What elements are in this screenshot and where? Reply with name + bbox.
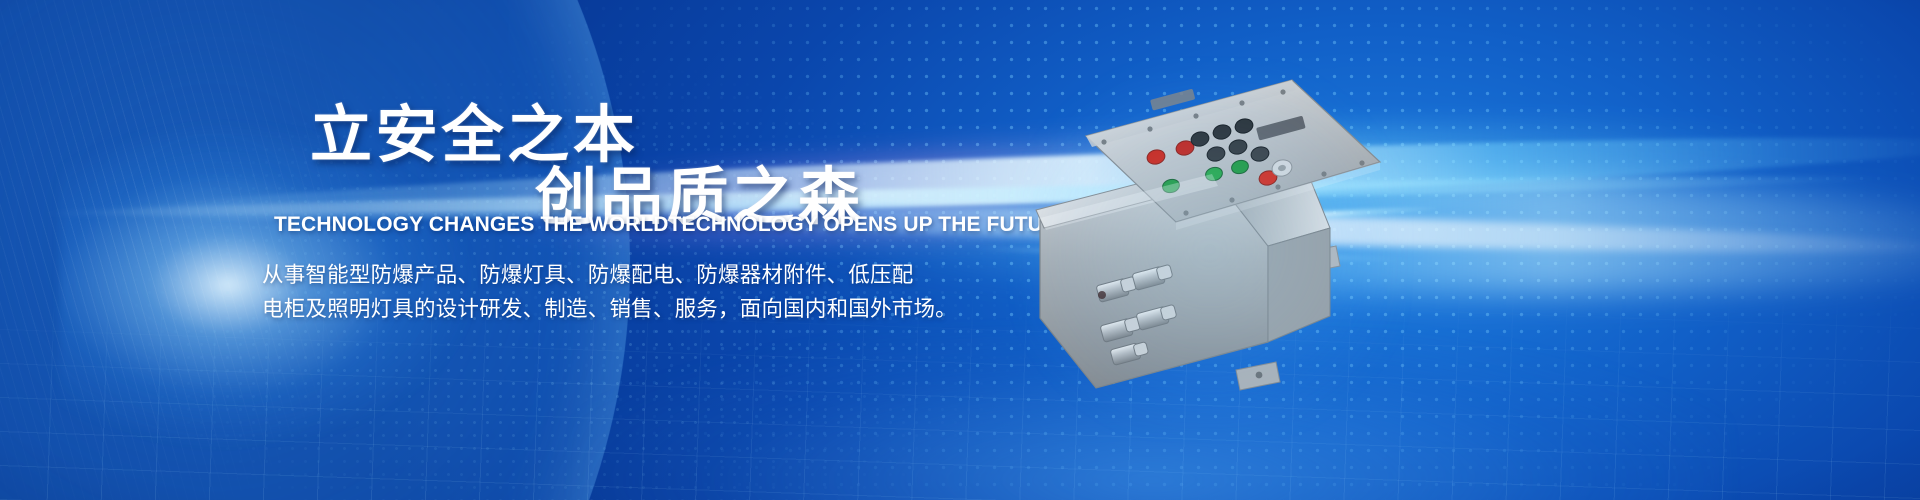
product-image bbox=[1000, 50, 1420, 450]
banner-copy: 立安全之本 创品质之森 TECHNOLOGY CHANGES THE WORLD… bbox=[0, 0, 960, 500]
description-line-1: 从事智能型防爆产品、防爆灯具、防爆配电、防爆器材附件、低压配 bbox=[262, 258, 922, 292]
description-line-2: 电柜及照明灯具的设计研发、制造、销售、服务，面向国内和国外市场。 bbox=[262, 292, 922, 326]
description-paragraph: 从事智能型防爆产品、防爆灯具、防爆配电、防爆器材附件、低压配 电柜及照明灯具的设… bbox=[262, 258, 922, 326]
english-subtitle: TECHNOLOGY CHANGES THE WORLDTECHNOLOGY O… bbox=[274, 213, 1072, 237]
product-glow bbox=[1020, 70, 1400, 430]
hero-banner: 立安全之本 创品质之森 TECHNOLOGY CHANGES THE WORLD… bbox=[0, 0, 1920, 500]
